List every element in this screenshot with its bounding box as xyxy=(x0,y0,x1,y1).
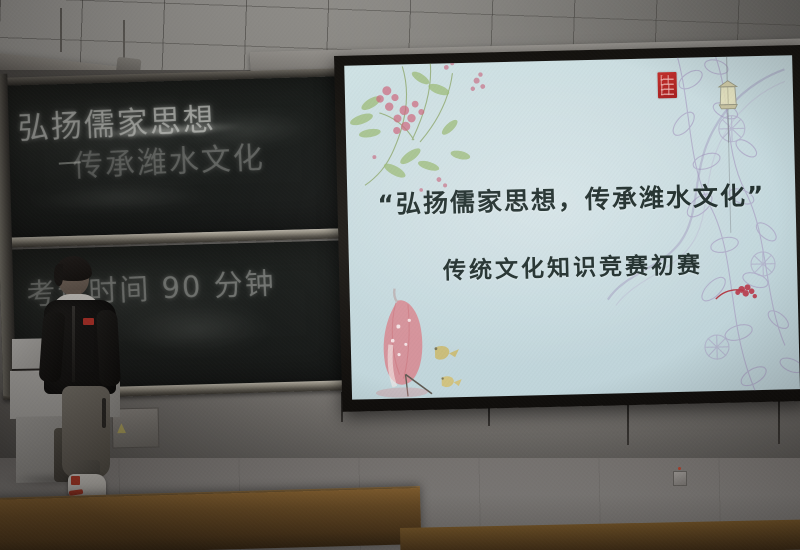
student-presenter xyxy=(40,256,130,518)
pants-strap xyxy=(102,398,106,428)
hanging-cord xyxy=(627,400,629,445)
red-vine-accent-icon xyxy=(713,282,760,305)
presentation-slide: “弘扬儒家思想，传承潍水文化” 传统文化知识竞赛初赛 xyxy=(344,55,800,399)
ogee-arch-outline-icon xyxy=(598,63,796,397)
person-jacket-zipper xyxy=(72,306,75,382)
power-socket-icon xyxy=(673,471,687,486)
person-right-arm xyxy=(96,310,121,387)
hanging-lantern-icon xyxy=(717,78,740,113)
red-seal-stamp-icon xyxy=(657,72,677,98)
oil-paper-umbrella-icon xyxy=(367,281,480,400)
person-hair-side xyxy=(54,264,63,286)
foreground-desk xyxy=(0,488,421,550)
jacket-logo-badge xyxy=(83,318,94,325)
light-suspension-rod xyxy=(60,8,62,52)
chalk-smudge xyxy=(27,180,208,215)
blackboard-text-line-2: 传承潍水文化 xyxy=(72,133,266,186)
classroom-photo: 弘扬儒家思想 传承潍水文化 考试时间 90 分钟 xyxy=(0,0,800,550)
chalk-smudge xyxy=(121,302,272,356)
hanging-cord xyxy=(778,398,780,444)
projection-screen: “弘扬儒家思想，传承潍水文化” 传统文化知识竞赛初赛 xyxy=(334,45,800,412)
shoe-accent-tab xyxy=(71,476,80,485)
